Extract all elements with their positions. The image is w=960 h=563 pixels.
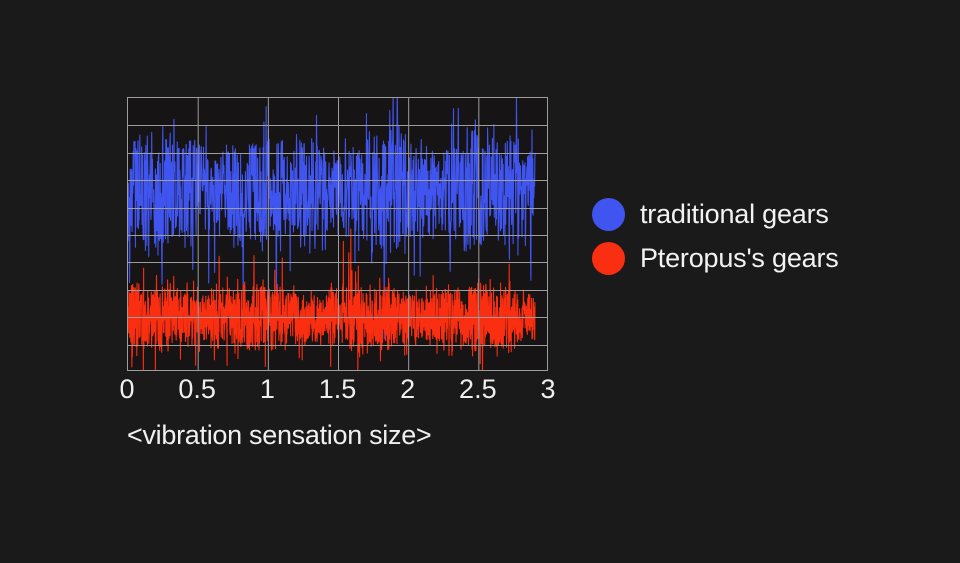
x-axis-tick-label: 2.5 (459, 373, 497, 405)
chart-legend: traditional gears Pteropus's gears (592, 192, 922, 280)
legend-item-label: Pteropus's gears (640, 243, 839, 273)
series-traces (128, 98, 548, 371)
legend-swatch-circle-icon (592, 242, 625, 275)
legend-item-traditional-gears[interactable]: traditional gears (592, 192, 922, 236)
x-axis-tick-label: 3 (540, 373, 555, 405)
chart-figure: 00.511.522.53 <vibration sensation size> (0, 0, 580, 480)
x-axis-tick-label: 1.5 (319, 373, 357, 405)
legend-swatch-circle-icon (592, 198, 625, 231)
chart-canvas: 00.511.522.53 <vibration sensation size>… (0, 0, 960, 563)
x-axis-tick-labels: 00.511.522.53 (127, 373, 548, 407)
x-axis-tick-label: 0.5 (178, 373, 216, 405)
x-axis-tick-label: 2 (400, 373, 415, 405)
x-axis-tick-label: 1 (260, 373, 275, 405)
x-axis-tick-label: 0 (119, 373, 134, 405)
x-axis-title: <vibration sensation size> (127, 418, 431, 452)
series-line (128, 229, 535, 371)
plot-area (127, 97, 548, 371)
legend-item-pteropus-gears[interactable]: Pteropus's gears (592, 236, 922, 280)
legend-item-label: traditional gears (640, 199, 829, 229)
